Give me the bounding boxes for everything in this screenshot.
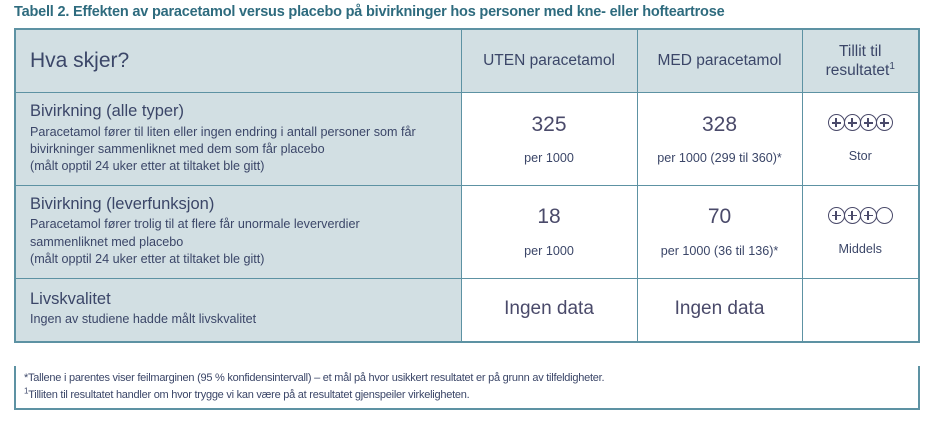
row-outcome-title: Bivirkning (alle typer) <box>30 101 447 122</box>
row-uten-value: 325 <box>466 112 633 137</box>
row-outcome-description: Ingen av studiene hadde målt livskvalite… <box>30 311 447 328</box>
header-question-label: Hva skjer? <box>30 49 447 72</box>
row-med-value: 70 <box>642 204 798 229</box>
row-description-line-3: (målt opptil 24 uker etter at tiltaket b… <box>30 252 265 266</box>
table-row: Bivirkning (leverfunksjon) Paracetamol f… <box>15 185 919 278</box>
header-uten-label: UTEN paracetamol <box>483 52 615 69</box>
row-med-cell: 328 per 1000 (299 til 360)* <box>637 93 802 186</box>
row-description-cell: Livskvalitet Ingen av studiene hadde mål… <box>15 278 461 342</box>
row-med-cell: Ingen data <box>637 278 802 342</box>
row-outcome-title: Bivirkning (leverfunksjon) <box>30 194 447 215</box>
row-uten-cell: Ingen data <box>461 278 637 342</box>
header-cell-question: Hva skjer? <box>15 29 461 93</box>
row-med-value: Ingen data <box>642 298 798 321</box>
footnote-certainty: 1Tilliten til resultatet handler om hvor… <box>24 387 910 404</box>
row-certainty-label: Middels <box>807 242 915 256</box>
grade-plus-circle-icon <box>844 207 861 224</box>
row-description-line-3: (målt opptil 24 uker etter at tiltaket b… <box>30 159 265 173</box>
header-cell-med: MED paracetamol <box>637 29 802 93</box>
grade-empty-circle-icon <box>876 207 893 224</box>
table-row: Livskvalitet Ingen av studiene hadde mål… <box>15 278 919 342</box>
footnote-star-text: Tallene i parentes viser feilmarginen (9… <box>28 372 604 384</box>
header-cell-tillit: Tillit til resultatet1 <box>802 29 919 93</box>
row-description-line-2: bivirkninger sammenliknet med dem som få… <box>30 142 325 156</box>
row-med-value: 328 <box>642 112 798 137</box>
grade-circles <box>807 207 915 224</box>
row-outcome-title: Livskvalitet <box>30 289 447 310</box>
row-uten-cell: 325 per 1000 <box>461 93 637 186</box>
row-description-line-1: Paracetamol fører trolig til at flere få… <box>30 217 360 231</box>
row-certainty-cell: Middels <box>802 185 919 278</box>
footnote-one-text: Tilliten til resultatet handler om hvor … <box>28 389 469 401</box>
row-description-line-1: Ingen av studiene hadde målt livskvalite… <box>30 312 256 326</box>
row-description-cell: Bivirkning (leverfunksjon) Paracetamol f… <box>15 185 461 278</box>
row-certainty-cell <box>802 278 919 342</box>
row-outcome-description: Paracetamol fører til liten eller ingen … <box>30 124 447 176</box>
grade-plus-circle-icon <box>844 114 861 131</box>
row-med-subtext: per 1000 (36 til 136)* <box>642 244 798 259</box>
row-description-line-2: sammenliknet med placebo <box>30 235 183 249</box>
summary-of-findings-table: Hva skjer? UTEN paracetamol MED paraceta… <box>14 28 920 343</box>
grade-plus-circle-icon <box>876 114 893 131</box>
summary-of-findings-table-page: Tabell 2. Effekten av paracetamol versus… <box>0 0 938 422</box>
row-uten-value: 18 <box>466 204 633 229</box>
table-row: Bivirkning (alle typer) Paracetamol føre… <box>15 93 919 186</box>
row-uten-subtext: per 1000 <box>466 151 633 166</box>
row-uten-value: Ingen data <box>466 298 633 321</box>
grade-plus-circle-icon <box>828 114 845 131</box>
table-footnotes: *Tallene i parentes viser feilmarginen (… <box>14 366 920 410</box>
row-uten-cell: 18 per 1000 <box>461 185 637 278</box>
footnote-confidence-interval: *Tallene i parentes viser feilmarginen (… <box>24 370 910 387</box>
row-med-subtext: per 1000 (299 til 360)* <box>642 151 798 166</box>
row-outcome-description: Paracetamol fører trolig til at flere få… <box>30 216 447 268</box>
table-caption: Tabell 2. Effekten av paracetamol versus… <box>14 4 924 20</box>
header-tillit-line1: Tillit til <box>839 43 881 60</box>
row-uten-subtext: per 1000 <box>466 244 633 259</box>
header-tillit-line2: resultatet <box>826 62 890 79</box>
row-description-cell: Bivirkning (alle typer) Paracetamol føre… <box>15 93 461 186</box>
grade-plus-circle-icon <box>828 207 845 224</box>
header-cell-uten: UTEN paracetamol <box>461 29 637 93</box>
header-tillit-footnote-marker: 1 <box>889 61 895 72</box>
grade-plus-circle-icon <box>860 114 877 131</box>
row-certainty-label: Stor <box>807 149 915 163</box>
table-header-row: Hva skjer? UTEN paracetamol MED paraceta… <box>15 29 919 93</box>
header-med-label: MED paracetamol <box>657 52 781 69</box>
row-med-cell: 70 per 1000 (36 til 136)* <box>637 185 802 278</box>
row-description-line-1: Paracetamol fører til liten eller ingen … <box>30 125 416 139</box>
grade-plus-circle-icon <box>860 207 877 224</box>
table-container: Hva skjer? UTEN paracetamol MED paraceta… <box>14 28 920 343</box>
grade-circles <box>807 114 915 131</box>
row-certainty-cell: Stor <box>802 93 919 186</box>
